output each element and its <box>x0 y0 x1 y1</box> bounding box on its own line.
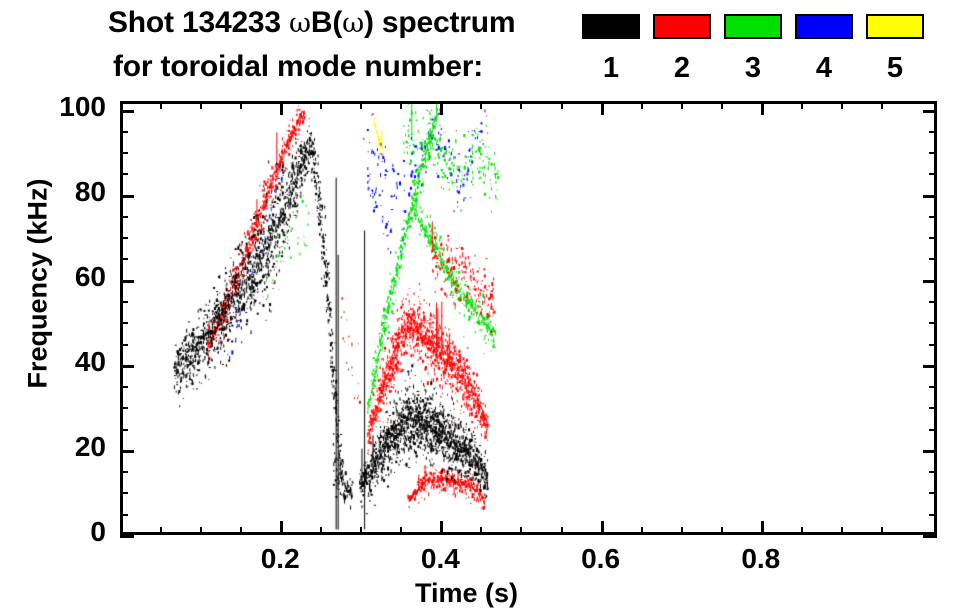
x-minor-tick <box>561 527 563 535</box>
legend-swatch-mode-n2 <box>653 14 711 39</box>
legend-label-mode-n3: 3 <box>724 52 782 85</box>
x-minor-tick-top <box>400 101 402 109</box>
legend-swatch-mode-n4 <box>795 14 853 39</box>
x-minor-tick-top <box>160 101 162 109</box>
y-axis-label: Frequency (kHz) <box>23 134 54 434</box>
legend-label-mode-n2: 2 <box>653 52 711 85</box>
x-minor-tick-top <box>360 101 362 109</box>
x-axis-label-text: Time (s) <box>415 578 518 608</box>
x-minor-tick-top <box>561 101 563 109</box>
figure-root: Shot 134233 ωB(ω) spectrum for toroidal … <box>0 0 963 615</box>
y-minor-tick <box>120 407 128 409</box>
y-minor-tick <box>120 429 128 431</box>
x-minor-tick-top <box>881 101 883 109</box>
x-minor-tick-top <box>240 101 242 109</box>
y-minor-tick <box>120 173 128 175</box>
x-major-tick <box>280 521 283 535</box>
legend-swatch-mode-n5 <box>866 14 924 39</box>
y-minor-tick <box>120 216 128 218</box>
x-minor-tick-top <box>841 101 843 109</box>
y-major-tick <box>120 280 134 283</box>
x-minor-tick <box>200 527 202 535</box>
legend-swatch-mode-n3 <box>724 14 782 39</box>
x-minor-tick-top <box>681 101 683 109</box>
x-minor-tick <box>841 527 843 535</box>
x-minor-tick-top <box>721 101 723 109</box>
x-minor-tick <box>721 527 723 535</box>
x-minor-tick <box>520 527 522 535</box>
spectrogram-canvas <box>123 104 940 538</box>
legend: 12345 <box>0 0 963 96</box>
x-tick-label: 0.4 <box>380 543 500 575</box>
y-minor-tick <box>120 131 128 133</box>
y-tick-label: 20 <box>0 431 106 463</box>
x-minor-tick <box>480 527 482 535</box>
x-minor-tick <box>360 527 362 535</box>
x-minor-tick <box>320 527 322 535</box>
y-minor-tick <box>120 152 128 154</box>
y-major-tick <box>120 365 134 368</box>
y-minor-tick <box>120 301 128 303</box>
x-tick-label: 0.2 <box>220 543 340 575</box>
x-axis-label: Time (s) <box>0 578 963 609</box>
y-minor-tick <box>120 492 128 494</box>
y-major-tick-right <box>923 535 937 538</box>
x-minor-tick <box>681 527 683 535</box>
plot-right-spine <box>934 101 937 535</box>
x-minor-tick <box>641 527 643 535</box>
x-minor-tick <box>881 527 883 535</box>
y-major-tick <box>120 450 134 453</box>
x-minor-tick-top <box>520 101 522 109</box>
y-major-tick <box>120 195 134 198</box>
x-major-tick-top <box>280 101 283 115</box>
x-minor-tick-top <box>200 101 202 109</box>
plot-area <box>120 101 937 535</box>
x-minor-tick <box>160 527 162 535</box>
x-tick-label: 0.8 <box>701 543 821 575</box>
legend-label-mode-n4: 4 <box>795 52 853 85</box>
x-major-tick-top <box>761 101 764 115</box>
y-major-tick <box>120 110 134 113</box>
x-minor-tick <box>440 527 442 535</box>
y-minor-tick <box>120 514 128 516</box>
x-major-tick <box>761 521 764 535</box>
y-minor-tick <box>120 237 128 239</box>
y-minor-tick <box>120 258 128 260</box>
y-minor-tick <box>120 322 128 324</box>
x-tick-label: 0.6 <box>541 543 661 575</box>
x-minor-tick-top <box>440 101 442 109</box>
x-minor-tick <box>801 527 803 535</box>
x-minor-tick <box>240 527 242 535</box>
y-minor-tick <box>120 344 128 346</box>
y-tick-label: 0 <box>0 516 106 548</box>
x-minor-tick <box>400 527 402 535</box>
x-minor-tick-top <box>801 101 803 109</box>
y-minor-tick <box>120 471 128 473</box>
y-tick-label: 100 <box>0 91 106 123</box>
x-minor-tick-top <box>480 101 482 109</box>
legend-label-mode-n5: 5 <box>866 52 924 85</box>
y-major-tick <box>120 535 134 538</box>
y-minor-tick <box>120 386 128 388</box>
legend-swatch-mode-n1 <box>582 14 640 39</box>
x-minor-tick-top <box>601 101 603 109</box>
x-minor-tick <box>601 527 603 535</box>
x-minor-tick-top <box>320 101 322 109</box>
x-minor-tick-top <box>641 101 643 109</box>
legend-label-mode-n1: 1 <box>582 52 640 85</box>
